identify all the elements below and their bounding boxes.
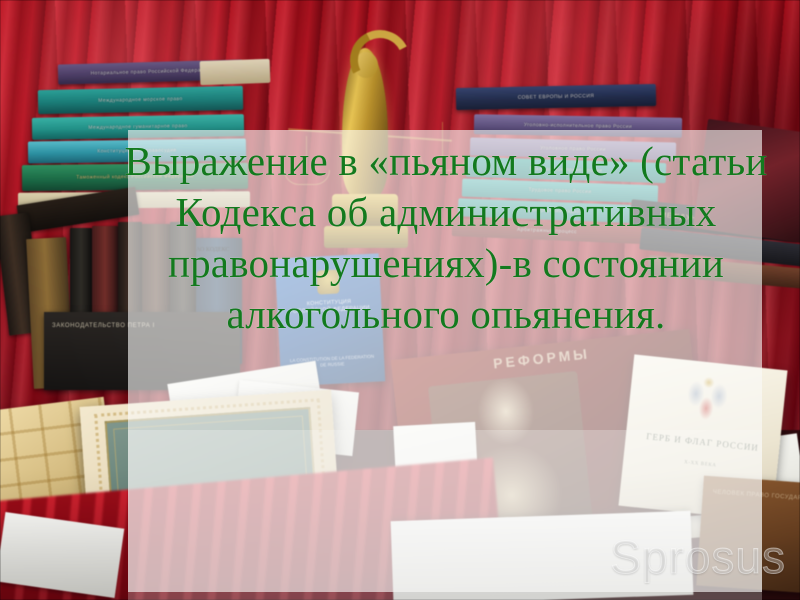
double-headed-eagle-icon <box>675 373 738 431</box>
book-page-edges <box>200 59 271 85</box>
book-spine-label: СОВЕТ ЕВРОПЫ И РОССИЯ <box>468 92 644 102</box>
slide-title: Выражение в «пьяном виде» (статьи Кодекс… <box>120 136 772 340</box>
book-spine-label: Международное гуманитарное право <box>45 122 232 131</box>
book-spine-penal-law: Уголовно-исполнительное право России <box>474 114 682 138</box>
book-cover-subtitle: X-XX ВЕКА <box>623 454 777 475</box>
book-cover-title: ГЕРБ И ФЛАГ РОССИИ <box>625 428 779 456</box>
book-spine-label: Международное морское право <box>50 95 230 105</box>
book-spine-maritime-law: Международное морское право <box>38 86 243 114</box>
book-pages-foreground <box>391 511 694 600</box>
presentation-slide: Нотариальное право Российской Федерации … <box>0 0 800 600</box>
book-spine-label: Уголовно-исполнительное право России <box>486 121 669 130</box>
book-man-law-state: ЧЕЛОВЕК ПРАВО ГОСУДАРСТВО <box>696 476 800 595</box>
book-cover-label: ЧЕЛОВЕК ПРАВО ГОСУДАРСТВО <box>713 488 800 505</box>
book-spine-council-of-europe: СОВЕТ ЕВРОПЫ И РОССИЯ <box>456 84 656 110</box>
